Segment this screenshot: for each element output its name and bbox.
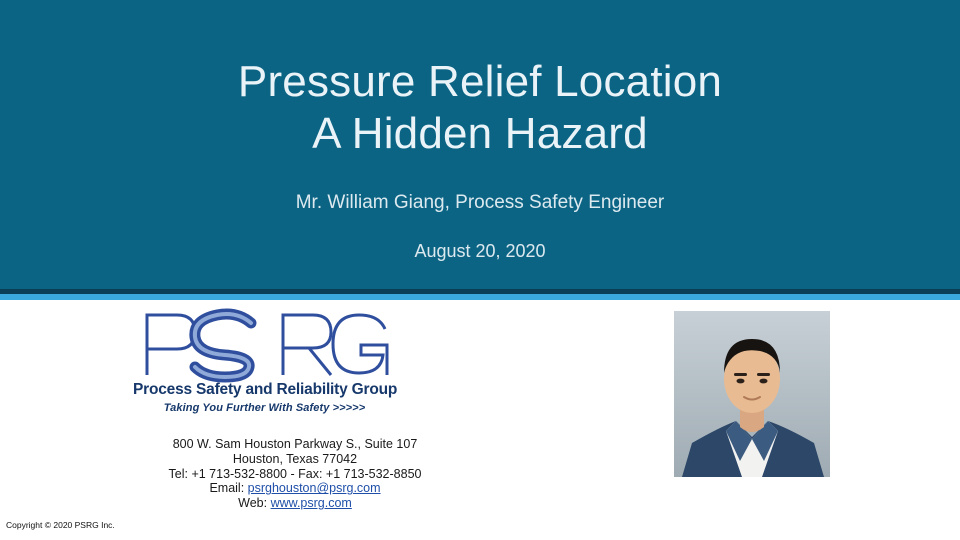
presenter-photo [674, 311, 830, 477]
contact-address-line-1: 800 W. Sam Houston Parkway S., Suite 107 [60, 437, 530, 452]
contact-block: 800 W. Sam Houston Parkway S., Suite 107… [60, 437, 530, 511]
logo-tagline-primary: Process Safety and Reliability Group [133, 381, 396, 399]
contact-web-label: Web: [238, 496, 270, 510]
contact-phone-line: Tel: +1 713-532-8800 - Fax: +1 713-532-8… [60, 467, 530, 482]
title-line-1: Pressure Relief Location [0, 56, 960, 108]
logo-tagline-secondary: Taking You Further With Safety >>>>> [133, 402, 396, 414]
page-title: Pressure Relief Location A Hidden Hazard [0, 56, 960, 160]
presentation-date: August 20, 2020 [0, 241, 960, 262]
contact-web-link[interactable]: www.psrg.com [271, 496, 352, 510]
contact-web-line: Web: www.psrg.com [60, 496, 530, 511]
divider-bar-light [0, 294, 960, 300]
presentation-slide: Pressure Relief Location A Hidden Hazard… [0, 0, 960, 540]
contact-email-link[interactable]: psrghouston@psrg.com [248, 481, 381, 495]
title-line-2: A Hidden Hazard [0, 108, 960, 160]
contact-email-line: Email: psrghouston@psrg.com [60, 481, 530, 496]
contact-email-label: Email: [209, 481, 247, 495]
title-banner: Pressure Relief Location A Hidden Hazard… [0, 0, 960, 289]
psrg-logo-letters-icon [133, 305, 396, 383]
copyright-notice: Copyright © 2020 PSRG Inc. [6, 520, 115, 530]
psrg-logo: Process Safety and Reliability Group Tak… [133, 305, 396, 415]
contact-address-line-2: Houston, Texas 77042 [60, 452, 530, 467]
presenter-name: Mr. William Giang, Process Safety Engine… [0, 192, 960, 214]
